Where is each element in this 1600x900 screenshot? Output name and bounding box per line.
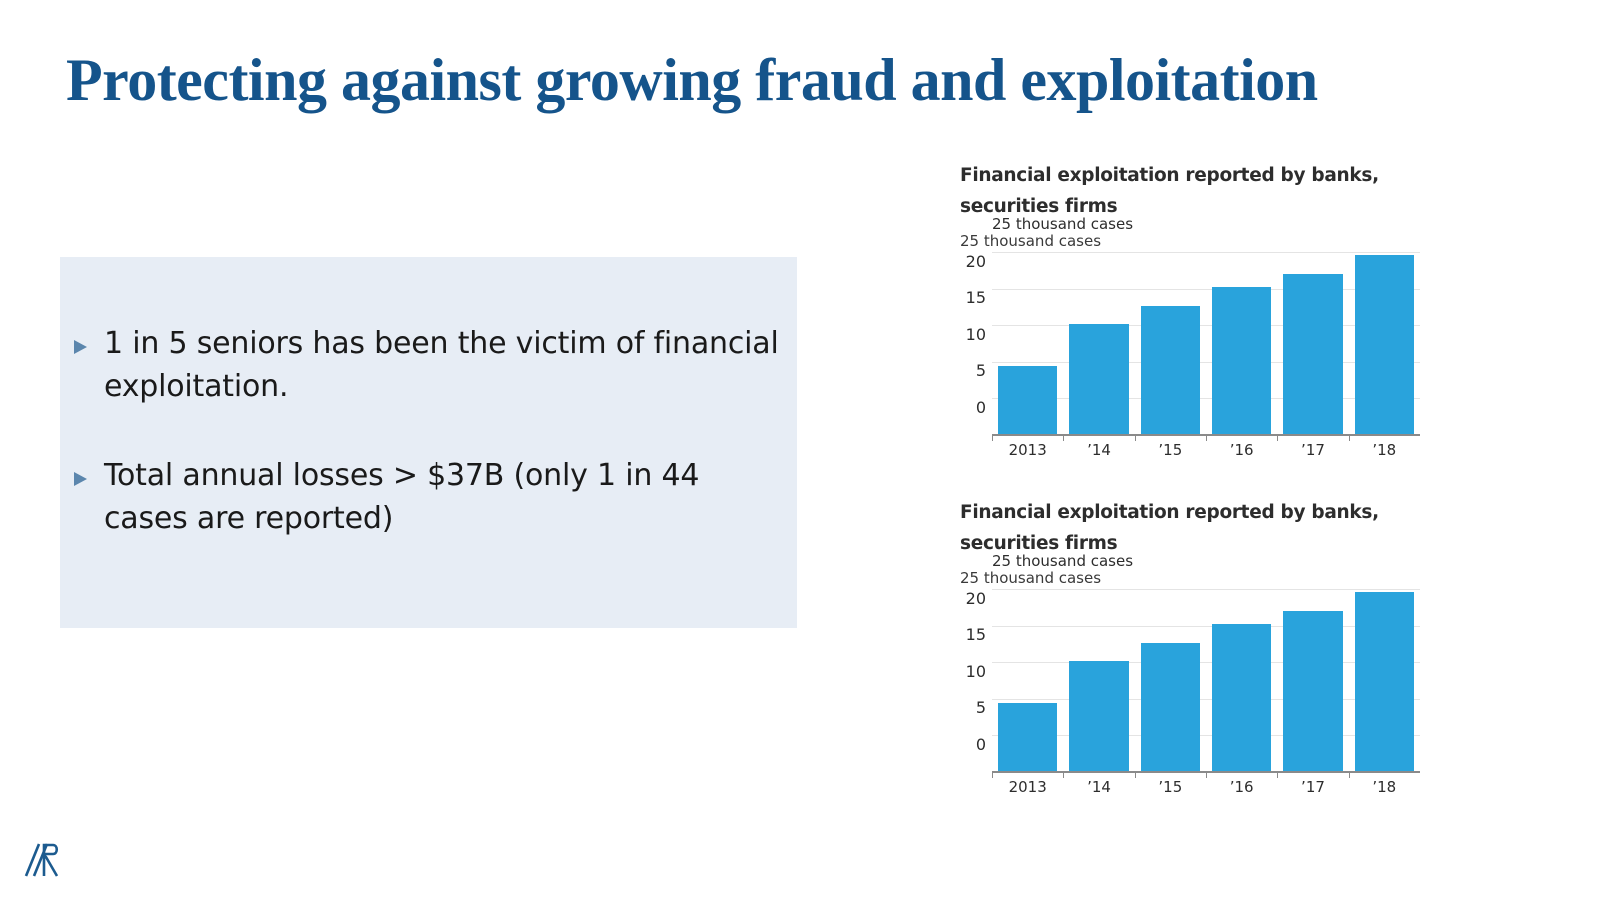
bar-slot: [1063, 590, 1134, 773]
chart-block-1: Financial exploitation reported by banks…: [960, 160, 1430, 459]
x-axis-tick-label: ’16: [1206, 436, 1277, 459]
bar-chart-2: 0510152025 thousand cases 2013’14’15’16’…: [960, 590, 1420, 796]
y-axis-tick-label: 0: [976, 736, 986, 754]
bar: [1141, 643, 1200, 773]
bar: [1069, 324, 1128, 436]
bar-slot: [992, 253, 1063, 436]
bar-slot: [1063, 253, 1134, 436]
bar: [998, 703, 1057, 773]
list-item: Total annual losses > $37B (only 1 in 44…: [74, 454, 794, 540]
x-axis-tick-label: ’18: [1349, 436, 1420, 459]
bars: [992, 253, 1420, 436]
x-axis-tick-label: ’15: [1135, 436, 1206, 459]
x-axis-tick-label: ’17: [1277, 773, 1348, 796]
bar: [1355, 592, 1414, 773]
bar-slot: [1277, 590, 1348, 773]
x-axis-tick-label: ’14: [1063, 436, 1134, 459]
bar: [1069, 661, 1128, 773]
triangle-bullet-icon: [74, 340, 88, 354]
bar-slot: [1206, 590, 1277, 773]
y-axis-tick-label: 25 thousand cases: [992, 552, 1133, 570]
chart-title: Financial exploitation reported by banks…: [960, 497, 1400, 559]
brand-logo-icon: [20, 832, 62, 880]
bar: [1355, 255, 1414, 436]
bars: [992, 590, 1420, 773]
y-axis-tick-label: 25 thousand cases: [992, 215, 1133, 233]
triangle-bullet-icon: [74, 472, 88, 486]
x-axis-tick-label: 2013: [992, 773, 1063, 796]
bullet-text: 1 in 5 seniors has been the victim of fi…: [104, 322, 784, 408]
bar-slot: [1135, 253, 1206, 436]
y-axis-tick-label: 10: [966, 326, 986, 344]
x-axis-tick-label: ’16: [1206, 773, 1277, 796]
x-axis-tick-label: ’17: [1277, 436, 1348, 459]
bar: [1141, 306, 1200, 436]
x-axis-tick-label: 2013: [992, 436, 1063, 459]
bar-slot: [1277, 253, 1348, 436]
y-axis-tick-label: 20: [966, 253, 986, 271]
y-axis-tick-label: 15: [966, 626, 986, 644]
list-item: 1 in 5 seniors has been the victim of fi…: [74, 322, 794, 408]
bar: [1212, 287, 1271, 436]
y-axis-tick-label: 10: [966, 663, 986, 681]
x-axis-tick-label: ’14: [1063, 773, 1134, 796]
bar: [1283, 274, 1342, 437]
chart-block-2: Financial exploitation reported by banks…: [960, 497, 1430, 796]
x-axis-labels: 2013’14’15’16’17’18: [992, 436, 1420, 459]
bar-chart-1: 0510152025 thousand cases 2013’14’15’16’…: [960, 253, 1420, 459]
bar-slot: [1349, 590, 1420, 773]
y-axis-tick-label: 5: [976, 699, 986, 717]
chart-title: Financial exploitation reported by banks…: [960, 160, 1400, 222]
x-axis-tick-label: ’15: [1135, 773, 1206, 796]
bullet-text: Total annual losses > $37B (only 1 in 44…: [104, 454, 784, 540]
bar-slot: [1206, 253, 1277, 436]
y-axis-tick-label: 0: [976, 399, 986, 417]
charts-column: Financial exploitation reported by banks…: [960, 160, 1430, 796]
chart-subtitle: 25 thousand cases: [960, 231, 1430, 251]
bar: [1283, 611, 1342, 774]
chart-subtitle: 25 thousand cases: [960, 568, 1430, 588]
bar-slot: [1349, 253, 1420, 436]
page-title: Protecting against growing fraud and exp…: [66, 44, 1466, 116]
y-axis-tick-label: 15: [966, 289, 986, 307]
bar: [1212, 624, 1271, 773]
y-axis-tick-label: 5: [976, 362, 986, 380]
x-axis-tick-label: ’18: [1349, 773, 1420, 796]
bar: [998, 366, 1057, 436]
y-axis-tick-label: 20: [966, 590, 986, 608]
x-axis-labels: 2013’14’15’16’17’18: [992, 773, 1420, 796]
bar-slot: [1135, 590, 1206, 773]
bar-slot: [992, 590, 1063, 773]
bullet-list: 1 in 5 seniors has been the victim of fi…: [74, 322, 794, 540]
